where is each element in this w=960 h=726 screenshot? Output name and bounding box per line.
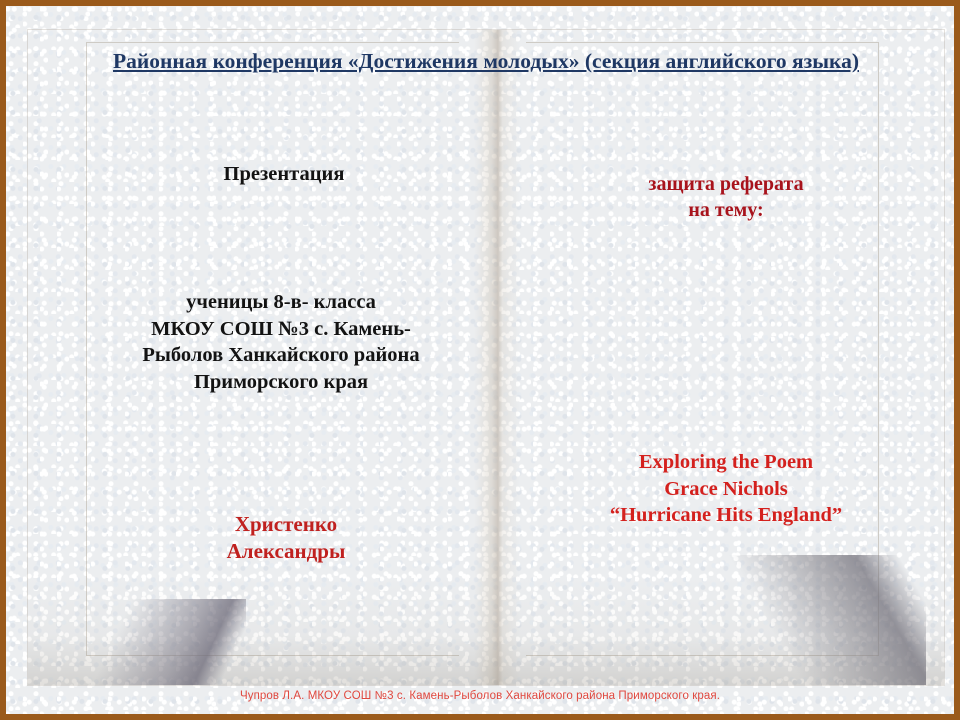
- slide-content-layer: Районная конференция «Достижения молодых…: [6, 6, 960, 726]
- defense-line: защита реферата: [566, 171, 886, 197]
- author-line: ученицы 8-в- класса: [96, 289, 466, 316]
- footer-credit-bar: Чупров Л.А. МКОУ СОШ №3 с. Камень-Рыболо…: [6, 684, 954, 708]
- author-affiliation-block: ученицы 8-в- класса МКОУ СОШ №3 с. Камен…: [96, 289, 466, 396]
- author-line: МКОУ СОШ №3 с. Камень-: [96, 316, 466, 343]
- author-line: Рыболов Ханкайского района: [96, 342, 466, 369]
- defense-line: на тему:: [566, 197, 886, 223]
- poem-topic-line: Exploring the Poem: [526, 449, 926, 476]
- poem-topic-block: Exploring the Poem Grace Nichols “Hurric…: [526, 449, 926, 529]
- presentation-heading: Презентация: [114, 163, 454, 186]
- footer-credit-text: Чупров Л.А. МКОУ СОШ №3 с. Камень-Рыболо…: [240, 690, 720, 702]
- slide-title: Районная конференция «Достижения молодых…: [66, 48, 906, 75]
- presentation-slide: Районная конференция «Достижения молодых…: [0, 0, 960, 720]
- defense-subtitle-block: защита реферата на тему:: [566, 171, 886, 223]
- student-surname: Христенко: [156, 511, 416, 538]
- student-name-block: Христенко Александры: [156, 511, 416, 566]
- author-line: Приморского края: [96, 369, 466, 396]
- poem-title-line: “Hurricane Hits England”: [526, 502, 926, 529]
- poem-author-line: Grace Nichols: [526, 476, 926, 503]
- student-given-name: Александры: [156, 538, 416, 565]
